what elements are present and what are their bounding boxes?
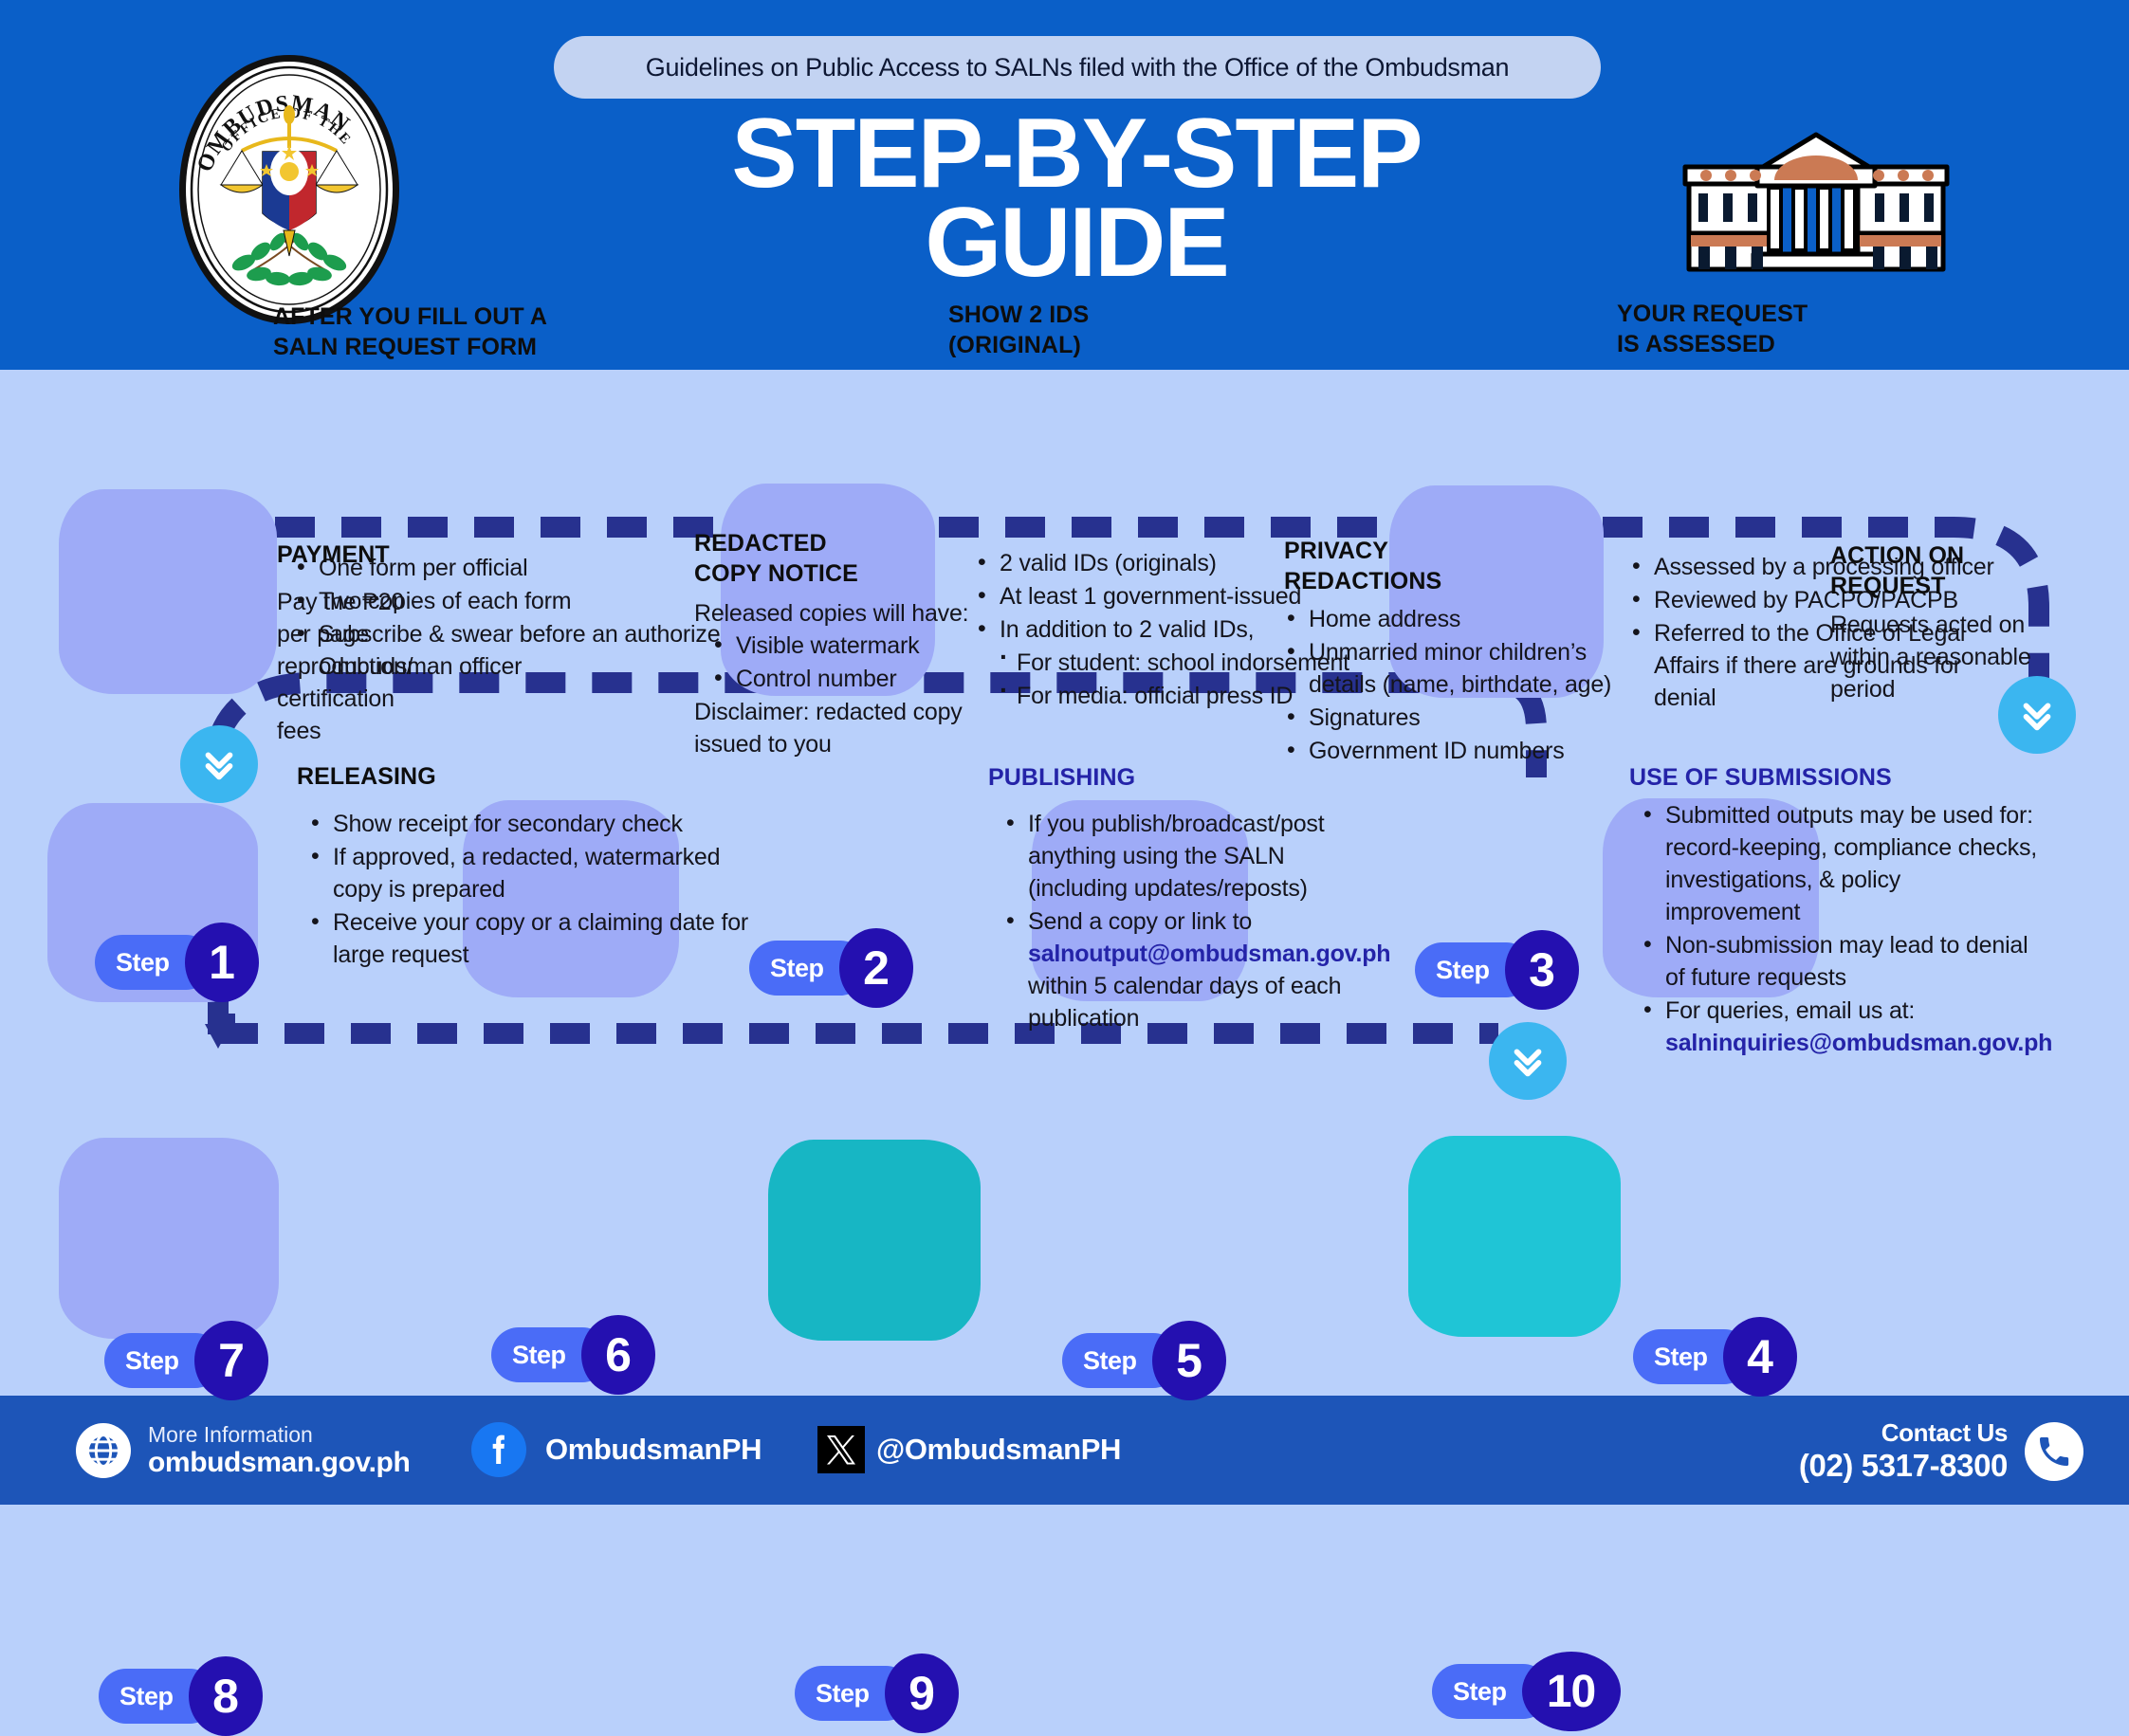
x-twitter-icon — [817, 1426, 865, 1473]
step-4-heading: ACTION ON REQUEST — [1830, 540, 2105, 601]
step-1-heading-line1: AFTER YOU FILL OUT A — [273, 302, 728, 332]
facebook-icon — [471, 1422, 526, 1477]
ombudsman-seal-logo: OFFICE OF THE OMBUDSMAN — [175, 52, 403, 327]
footer-facebook-group[interactable]: OmbudsmanPH — [471, 1422, 762, 1477]
step-8-heading: RELEASING — [297, 761, 676, 792]
step-7-heading: PAYMENT — [277, 539, 495, 570]
step-3-heading: YOUR REQUEST IS ASSESSED — [1617, 299, 2015, 359]
double-chevron-down-icon — [197, 742, 241, 786]
step-10-badge[interactable]: Step 10 — [1432, 1652, 1621, 1731]
step-9-send-text: Send a copy or link to — [1028, 908, 1252, 935]
step-5-heading: PRIVACY REDACTIONS — [1284, 536, 1625, 596]
step-2-heading-line1: SHOW 2 IDs — [948, 300, 1366, 330]
footer-more-information-label: More Information — [148, 1422, 410, 1447]
step-5-number: 5 — [1152, 1321, 1226, 1400]
guidelines-banner-text: Guidelines on Public Access to SALNs fil… — [646, 53, 1509, 82]
step-2-number: 2 — [839, 928, 913, 1008]
step-6-heading-line2: COPY NOTICE — [694, 558, 1007, 589]
page-title-line1: STEP-BY-STEP — [531, 109, 1622, 198]
list-item: Signatures — [1284, 702, 1616, 734]
saln-output-email[interactable]: salnoutput@ombudsman.gov.ph — [1028, 941, 1390, 967]
list-item: If you publish/broadcast/post anything u… — [1003, 808, 1383, 905]
list-item: Control number — [711, 663, 1007, 695]
step-1-number: 1 — [185, 923, 259, 1002]
step-6-badge[interactable]: Step 6 — [491, 1315, 655, 1395]
step-6-intro: Released copies will have: — [694, 597, 1007, 630]
step-2-badge[interactable]: Step 2 — [749, 928, 913, 1008]
step-8-number: 8 — [189, 1656, 263, 1736]
step-7-body: Pay the ₱20 per page reproduction/ certi… — [277, 586, 438, 747]
globe-icon — [76, 1423, 131, 1478]
step-3-badge[interactable]: Step 3 — [1415, 930, 1579, 1010]
chevron-connector-3 — [1489, 1022, 1567, 1100]
step-8-bullets: Show receipt for secondary check If appr… — [308, 808, 754, 972]
step-1-tile[interactable] — [59, 489, 277, 694]
step-10-number: 10 — [1522, 1652, 1621, 1731]
step-9-heading: PUBLISHING — [988, 762, 1386, 793]
step-4-badge[interactable]: Step 4 — [1633, 1317, 1797, 1397]
step-7-heading-line1: PAYMENT — [277, 539, 495, 570]
step-9-heading-line1: PUBLISHING — [988, 762, 1386, 793]
step-8-tile[interactable] — [59, 1138, 279, 1339]
footer-x-handle[interactable]: @OmbudsmanPH — [876, 1433, 1121, 1467]
step-3-heading-line1: YOUR REQUEST — [1617, 299, 2015, 329]
page-title: STEP-BY-STEP GUIDE — [531, 109, 1622, 287]
list-item: Unmarried minor children’s details (name… — [1284, 636, 1616, 701]
step-9-tile[interactable] — [768, 1140, 981, 1341]
step-6-bullets: Visible watermark Control number — [711, 630, 1007, 695]
step-8-badge[interactable]: Step 8 — [99, 1656, 263, 1736]
government-building-icon — [1655, 112, 1977, 273]
footer-contact-label: Contact Us — [1799, 1418, 2008, 1448]
list-item: Submitted outputs may be used for: recor… — [1641, 799, 2039, 928]
step-6-number: 6 — [581, 1315, 655, 1395]
step-3-heading-line2: IS ASSESSED — [1617, 329, 2015, 359]
step-9-email-suffix: within 5 calendar days of each publicati… — [1028, 973, 1341, 1032]
step-1-heading: AFTER YOU FILL OUT A SALN REQUEST FORM — [273, 302, 728, 362]
list-item: Show receipt for secondary check — [308, 808, 754, 840]
step-4-heading-line2: REQUEST — [1830, 571, 2105, 601]
step-6-content: Released copies will have: Visible water… — [694, 597, 1007, 760]
step-6-heading-line1: REDACTED — [694, 528, 1007, 558]
step-9-number: 9 — [885, 1654, 959, 1733]
guidelines-banner: Guidelines on Public Access to SALNs fil… — [554, 36, 1601, 99]
step-8-heading-line1: RELEASING — [297, 761, 676, 792]
step-4-heading-line1: ACTION ON — [1830, 540, 2105, 571]
list-item: Non-submission may lead to denial of fut… — [1641, 929, 2039, 994]
footer-website-group[interactable]: More Information ombudsman.gov.ph — [76, 1422, 410, 1479]
list-item: Home address — [1284, 603, 1616, 635]
footer-x-group[interactable]: @OmbudsmanPH — [817, 1426, 1121, 1473]
phone-icon — [2025, 1422, 2083, 1481]
step-7-badge[interactable]: Step 7 — [104, 1321, 268, 1400]
steps-canvas: Step 1 AFTER YOU FILL OUT A SALN REQUEST… — [0, 370, 2129, 1396]
step-5-bullets: Home address Unmarried minor children’s … — [1284, 603, 1616, 768]
step-1-heading-line2: SALN REQUEST FORM — [273, 332, 728, 362]
list-item: Receive your copy or a claiming date for… — [308, 906, 754, 971]
step-9-badge[interactable]: Step 9 — [795, 1654, 959, 1733]
step-4-number: 4 — [1723, 1317, 1797, 1397]
step-5-heading-line2: REDACTIONS — [1284, 566, 1625, 596]
step-10-queries-text: For queries, email us at: — [1665, 997, 1915, 1024]
list-item: Visible watermark — [711, 630, 1007, 662]
chevron-connector-2 — [180, 725, 258, 803]
step-2-heading-line2: (ORIGINAL) — [948, 330, 1366, 360]
footer-contact-number[interactable]: (02) 5317‑8300 — [1799, 1448, 2008, 1484]
step-6-heading: REDACTED COPY NOTICE — [694, 528, 1007, 589]
list-item: For queries, email us at: salninquiries@… — [1641, 995, 2039, 1059]
step-10-bullets: Submitted outputs may be used for: recor… — [1641, 799, 2039, 1060]
step-10-heading-line1: USE OF SUBMISSIONS — [1629, 762, 2084, 793]
page-footer: More Information ombudsman.gov.ph Ombuds… — [0, 1396, 2129, 1505]
step-9-bullets: If you publish/broadcast/post anything u… — [1003, 808, 1383, 1035]
page-title-line2: GUIDE — [531, 198, 1622, 287]
footer-contact-group[interactable]: Contact Us (02) 5317‑8300 — [1799, 1418, 2083, 1484]
list-item: If approved, a redacted, watermarked cop… — [308, 841, 754, 905]
step-7-number: 7 — [194, 1321, 268, 1400]
step-5-heading-line1: PRIVACY — [1284, 536, 1625, 566]
step-6-outro: Disclaimer: redacted copy issued to you — [694, 696, 1007, 760]
footer-website[interactable]: ombudsman.gov.ph — [148, 1447, 410, 1479]
list-item: Send a copy or link to salnoutput@ombuds… — [1003, 905, 1383, 1034]
double-chevron-down-icon — [1506, 1039, 1550, 1083]
footer-facebook-handle[interactable]: OmbudsmanPH — [545, 1433, 762, 1467]
step-3-number: 3 — [1505, 930, 1579, 1010]
step-5-badge[interactable]: Step 5 — [1062, 1321, 1226, 1400]
step-2-heading: SHOW 2 IDs (ORIGINAL) — [948, 300, 1366, 360]
saln-inquiries-email[interactable]: salninquiries@ombudsman.gov.ph — [1665, 1030, 2052, 1056]
step-4-body: Requests acted on within a reasonable pe… — [1830, 609, 2082, 705]
step-10-heading: USE OF SUBMISSIONS — [1629, 762, 2084, 793]
step-10-tile[interactable] — [1408, 1136, 1621, 1337]
